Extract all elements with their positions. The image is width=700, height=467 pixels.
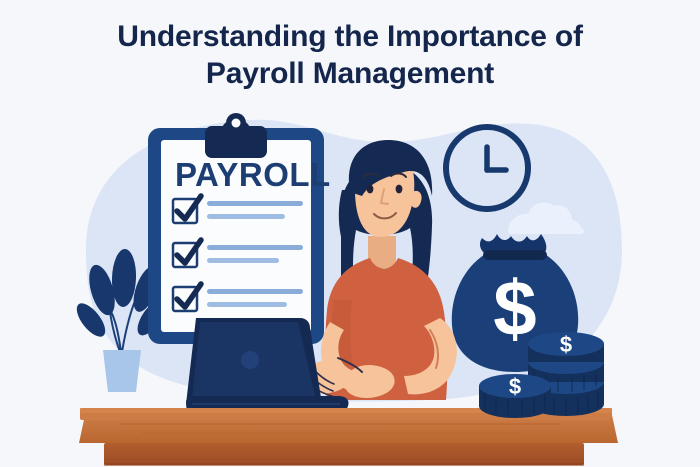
- svg-text:$: $: [509, 374, 521, 399]
- payroll-illustration: $: [0, 0, 700, 467]
- wooden-desk: [79, 408, 618, 466]
- coin-stack-left: $: [479, 374, 551, 418]
- svg-text:$: $: [560, 332, 572, 357]
- clipboard-heading: PAYROLL: [175, 156, 331, 193]
- wall-clock: [446, 127, 528, 209]
- illustration-canvas: $: [0, 0, 700, 467]
- svg-text:$: $: [493, 264, 536, 352]
- payroll-clipboard: [148, 113, 324, 344]
